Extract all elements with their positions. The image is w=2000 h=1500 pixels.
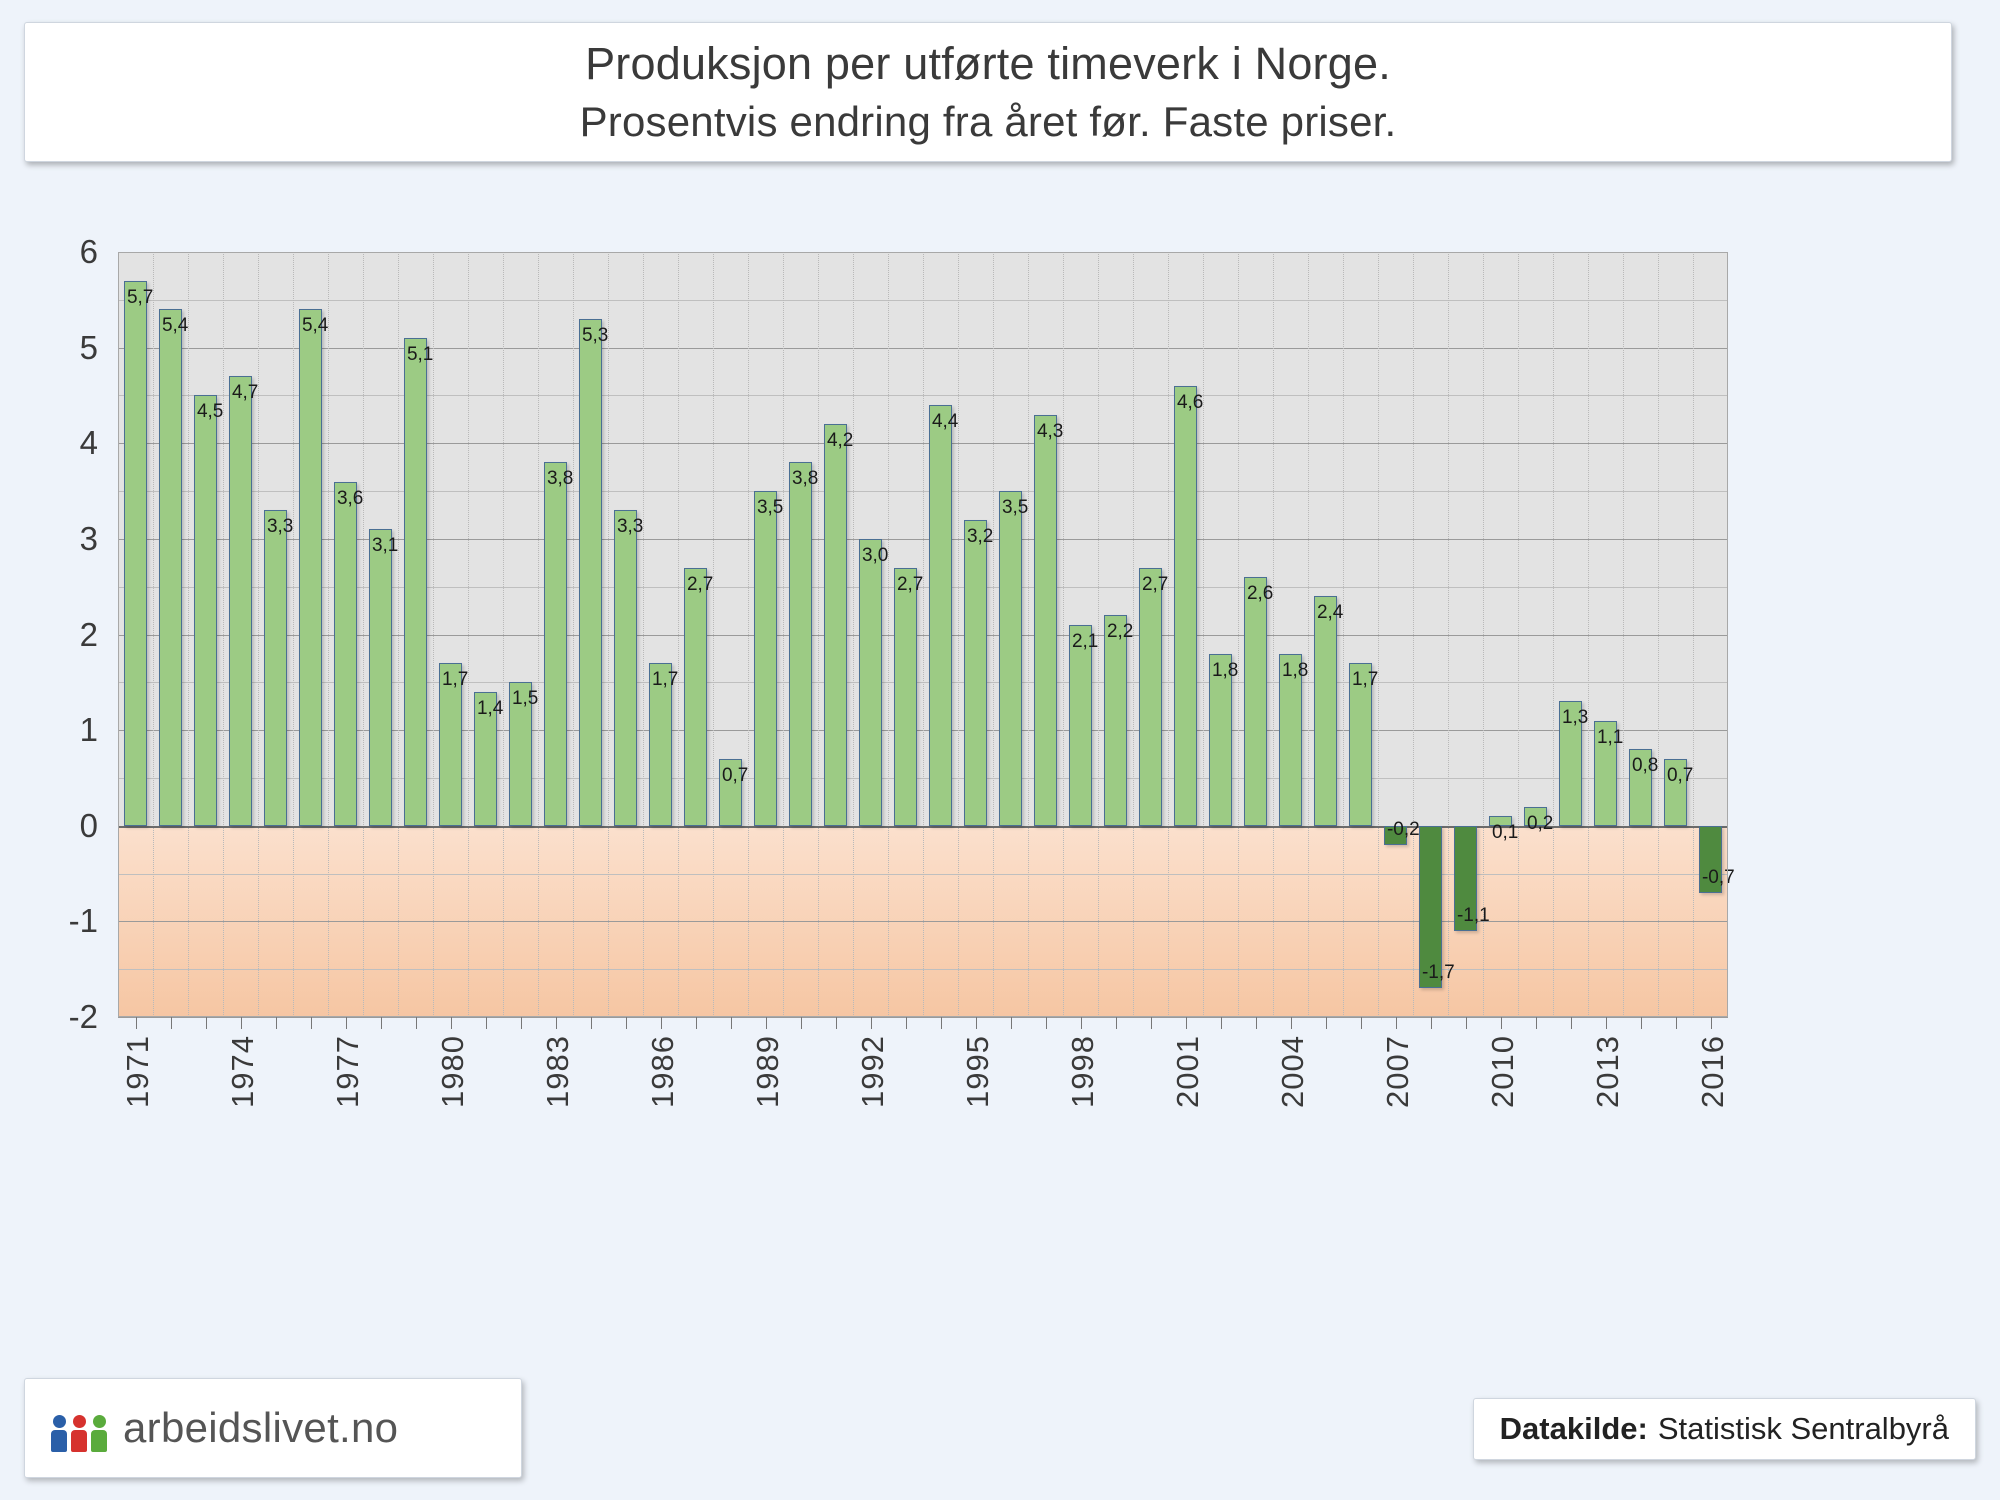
x-axis-tick [626,1017,627,1029]
bar-value-label: 3,6 [337,488,363,510]
vertical-gridline [468,252,469,1017]
vertical-gridline [958,252,959,1017]
source-card: Datakilde: Statistisk Sentralbyrå [1473,1398,1976,1460]
vertical-gridline [1308,252,1309,1017]
x-axis-tick [661,1017,662,1029]
bar-value-label: 3,1 [372,535,398,557]
people-icon [51,1404,107,1452]
bar-value-label: 1,4 [477,698,503,720]
bar-value-label: 4,7 [232,382,258,404]
brand-logo-text: arbeidslivet.no [123,1404,398,1452]
vertical-gridline [1343,252,1344,1017]
bar-1983[interactable] [544,462,567,825]
vertical-gridline [573,252,574,1017]
vertical-gridline [1168,252,1169,1017]
x-axis-tick [1431,1017,1432,1029]
x-axis-label-1998: 1998 [1065,1035,1101,1108]
plot-area: 5,75,44,54,73,35,43,63,15,11,71,41,53,85… [118,252,1728,1017]
bar-value-label: 0,7 [722,765,748,787]
vertical-gridline [1238,252,1239,1017]
bar-value-label: 3,8 [792,468,818,490]
bar-value-label: 0,2 [1527,813,1553,835]
x-axis-tick [976,1017,977,1029]
x-axis-tick [556,1017,557,1029]
bar-1997[interactable] [1034,415,1057,826]
x-axis-tick [1291,1017,1292,1029]
x-axis-label-2004: 2004 [1275,1035,1311,1108]
x-axis-label-2001: 2001 [1170,1035,1206,1108]
bar-2001[interactable] [1174,386,1197,826]
vertical-gridline [1693,252,1694,1017]
x-axis-tick [171,1017,172,1029]
x-axis-tick [451,1017,452,1029]
y-axis-label: 5 [38,329,98,367]
bar-value-label: 3,2 [967,526,993,548]
vertical-gridline [293,252,294,1017]
vertical-gridline [608,252,609,1017]
x-axis-tick [1011,1017,1012,1029]
bar-1973[interactable] [194,395,217,825]
x-axis-label-2016: 2016 [1695,1035,1731,1108]
x-axis-tick [206,1017,207,1029]
bar-1979[interactable] [404,338,427,826]
person-red-icon [71,1415,87,1452]
x-axis-tick [1116,1017,1117,1029]
bar-1985[interactable] [614,510,637,826]
vertical-gridline [678,252,679,1017]
bar-value-label: 2,7 [897,574,923,596]
bar-1999[interactable] [1104,615,1127,825]
x-axis-tick [871,1017,872,1029]
x-axis-tick [1256,1017,1257,1029]
bar-1974[interactable] [229,376,252,825]
bar-value-label: 2,7 [687,574,713,596]
vertical-gridline [223,252,224,1017]
bar-value-label: -1,7 [1422,962,1455,984]
x-axis-tick [906,1017,907,1029]
bar-value-label: 1,7 [1352,669,1378,691]
title-card: Produksjon per utførte timeverk i Norge.… [24,22,1952,162]
x-axis-label-1977: 1977 [330,1035,366,1108]
bar-value-label: 2,7 [1142,574,1168,596]
x-axis-tick [1396,1017,1397,1029]
x-axis-tick [136,1017,137,1029]
x-axis-label-2010: 2010 [1485,1035,1521,1108]
vertical-gridline [1518,252,1519,1017]
bar-value-label: 4,2 [827,430,853,452]
vertical-gridline [1273,252,1274,1017]
bar-1987[interactable] [684,568,707,826]
x-axis-tick [941,1017,942,1029]
bar-1978[interactable] [369,529,392,825]
chart-title-line2: Prosentvis endring fra året før. Faste p… [580,97,1397,147]
x-axis-tick [731,1017,732,1029]
x-axis-tick [1361,1017,1362,1029]
x-axis-label-1986: 1986 [645,1035,681,1108]
x-axis-label-1995: 1995 [960,1035,996,1108]
bar-value-label: 1,5 [512,688,538,710]
bar-2000[interactable] [1139,568,1162,826]
vertical-gridline [538,252,539,1017]
x-axis-tick [1571,1017,1572,1029]
bar-value-label: 0,1 [1492,822,1518,844]
x-axis-tick [1326,1017,1327,1029]
vertical-gridline [1203,252,1204,1017]
x-axis-label-1980: 1980 [435,1035,471,1108]
bar-value-label: -0,7 [1702,867,1735,889]
bar-1976[interactable] [299,309,322,825]
bar-1996[interactable] [999,491,1022,826]
bar-value-label: 5,1 [407,344,433,366]
x-axis-tick [1466,1017,1467,1029]
bar-1994[interactable] [929,405,952,826]
bar-value-label: 5,7 [127,287,153,309]
vertical-gridline [433,252,434,1017]
vertical-gridline [1063,252,1064,1017]
y-axis-label: -1 [38,902,98,940]
x-axis-tick [1676,1017,1677,1029]
x-axis-tick [486,1017,487,1029]
bar-1992[interactable] [859,539,882,826]
bar-value-label: 4,6 [1177,392,1203,414]
x-axis-tick [381,1017,382,1029]
bar-value-label: 3,5 [1002,497,1028,519]
horizontal-gridline [118,1017,1728,1018]
x-axis-tick [521,1017,522,1029]
y-axis-label: 1 [38,711,98,749]
bar-value-label: 0,7 [1667,765,1693,787]
vertical-gridline [888,252,889,1017]
bar-value-label: 2,2 [1107,621,1133,643]
vertical-gridline [713,252,714,1017]
vertical-gridline [643,252,644,1017]
x-axis-tick [836,1017,837,1029]
bar-value-label: 1,7 [652,669,678,691]
bar-value-label: 3,5 [757,497,783,519]
bar-value-label: 1,8 [1282,660,1308,682]
bar-value-label: 3,8 [547,468,573,490]
x-axis-tick [1711,1017,1712,1029]
chart-title-line1: Produksjon per utførte timeverk i Norge. [585,37,1391,91]
bar-1995[interactable] [964,520,987,826]
vertical-gridline [363,252,364,1017]
bar-1984[interactable] [579,319,602,826]
x-axis-tick [696,1017,697,1029]
bar-1998[interactable] [1069,625,1092,826]
bar-1989[interactable] [754,491,777,826]
x-axis-tick [1046,1017,1047,1029]
bar-value-label: 2,4 [1317,602,1343,624]
bar-2003[interactable] [1244,577,1267,826]
x-axis-label-1989: 1989 [750,1035,786,1108]
bar-value-label: 4,3 [1037,421,1063,443]
vertical-gridline [398,252,399,1017]
vertical-gridline [1553,252,1554,1017]
x-axis-tick [346,1017,347,1029]
bar-value-label: 1,1 [1597,727,1623,749]
zero-axis-line [118,826,1728,828]
x-axis-label-1983: 1983 [540,1035,576,1108]
vertical-gridline [1448,252,1449,1017]
bar-value-label: 5,4 [162,315,188,337]
y-axis: 6543210-1-2 [36,252,98,1017]
y-axis-label: 2 [38,616,98,654]
bar-2005[interactable] [1314,596,1337,826]
bar-value-label: -1,1 [1457,905,1490,927]
x-axis-tick [801,1017,802,1029]
x-axis-tick [1606,1017,1607,1029]
vertical-gridline [1588,252,1589,1017]
x-axis-label-1971: 1971 [120,1035,156,1108]
vertical-gridline [1028,252,1029,1017]
vertical-gridline [818,252,819,1017]
x-axis-tick [276,1017,277,1029]
bar-value-label: 4,5 [197,401,223,423]
x-axis-tick [1536,1017,1537,1029]
vertical-gridline [328,252,329,1017]
source-label: Datakilde: [1500,1411,1648,1447]
vertical-gridline [188,252,189,1017]
bar-value-label: 2,6 [1247,583,1273,605]
x-axis-tick [1081,1017,1082,1029]
y-axis-label: 4 [38,424,98,462]
y-axis-label: 0 [38,807,98,845]
vertical-gridline [258,252,259,1017]
vertical-gridline [1623,252,1624,1017]
x-axis-tick [591,1017,592,1029]
x-axis-tick [766,1017,767,1029]
x-axis-tick [1501,1017,1502,1029]
vertical-gridline [503,252,504,1017]
bar-1991[interactable] [824,424,847,826]
bar-1990[interactable] [789,462,812,825]
y-axis-label: 3 [38,520,98,558]
brand-logo-card[interactable]: arbeidslivet.no [24,1378,522,1478]
person-green-icon [91,1415,107,1452]
bar-value-label: 3,3 [267,516,293,538]
chart-container: 6543210-1-2 5,75,44,54,73,35,43,63,15,11… [0,180,2000,1240]
bar-1993[interactable] [894,568,917,826]
vertical-gridline [1378,252,1379,1017]
x-axis-tick [416,1017,417,1029]
bar-value-label: 3,3 [617,516,643,538]
bar-value-label: 2,1 [1072,631,1098,653]
vertical-gridline [1483,252,1484,1017]
vertical-gridline [923,252,924,1017]
vertical-gridline [153,252,154,1017]
bar-value-label: 3,0 [862,545,888,567]
x-axis-label-2013: 2013 [1590,1035,1626,1108]
bar-value-label: 1,8 [1212,660,1238,682]
bar-value-label: 0,8 [1632,755,1658,777]
bar-value-label: 1,3 [1562,707,1588,729]
bar-value-label: 5,3 [582,325,608,347]
y-axis-label: -2 [38,998,98,1036]
x-axis-tick [1221,1017,1222,1029]
x-axis-tick [1151,1017,1152,1029]
x-axis-label-1974: 1974 [225,1035,261,1108]
vertical-gridline [748,252,749,1017]
bar-1971[interactable] [124,281,147,826]
x-axis-label-2007: 2007 [1380,1035,1416,1108]
y-axis-label: 6 [38,233,98,271]
bar-1975[interactable] [264,510,287,826]
x-axis-label-1992: 1992 [855,1035,891,1108]
source-value: Statistisk Sentralbyrå [1658,1411,1949,1447]
vertical-gridline [993,252,994,1017]
x-axis-tick [241,1017,242,1029]
vertical-gridline [1658,252,1659,1017]
bar-value-label: -0,2 [1387,819,1420,841]
bar-value-label: 5,4 [302,315,328,337]
x-axis-tick [1186,1017,1187,1029]
person-blue-icon [51,1415,67,1452]
x-axis-tick [1641,1017,1642,1029]
vertical-gridline [853,252,854,1017]
x-axis-tick [311,1017,312,1029]
vertical-gridline [783,252,784,1017]
vertical-gridline [1413,252,1414,1017]
bar-1977[interactable] [334,482,357,826]
bar-value-label: 4,4 [932,411,958,433]
bar-value-label: 1,7 [442,669,468,691]
bar-1972[interactable] [159,309,182,825]
